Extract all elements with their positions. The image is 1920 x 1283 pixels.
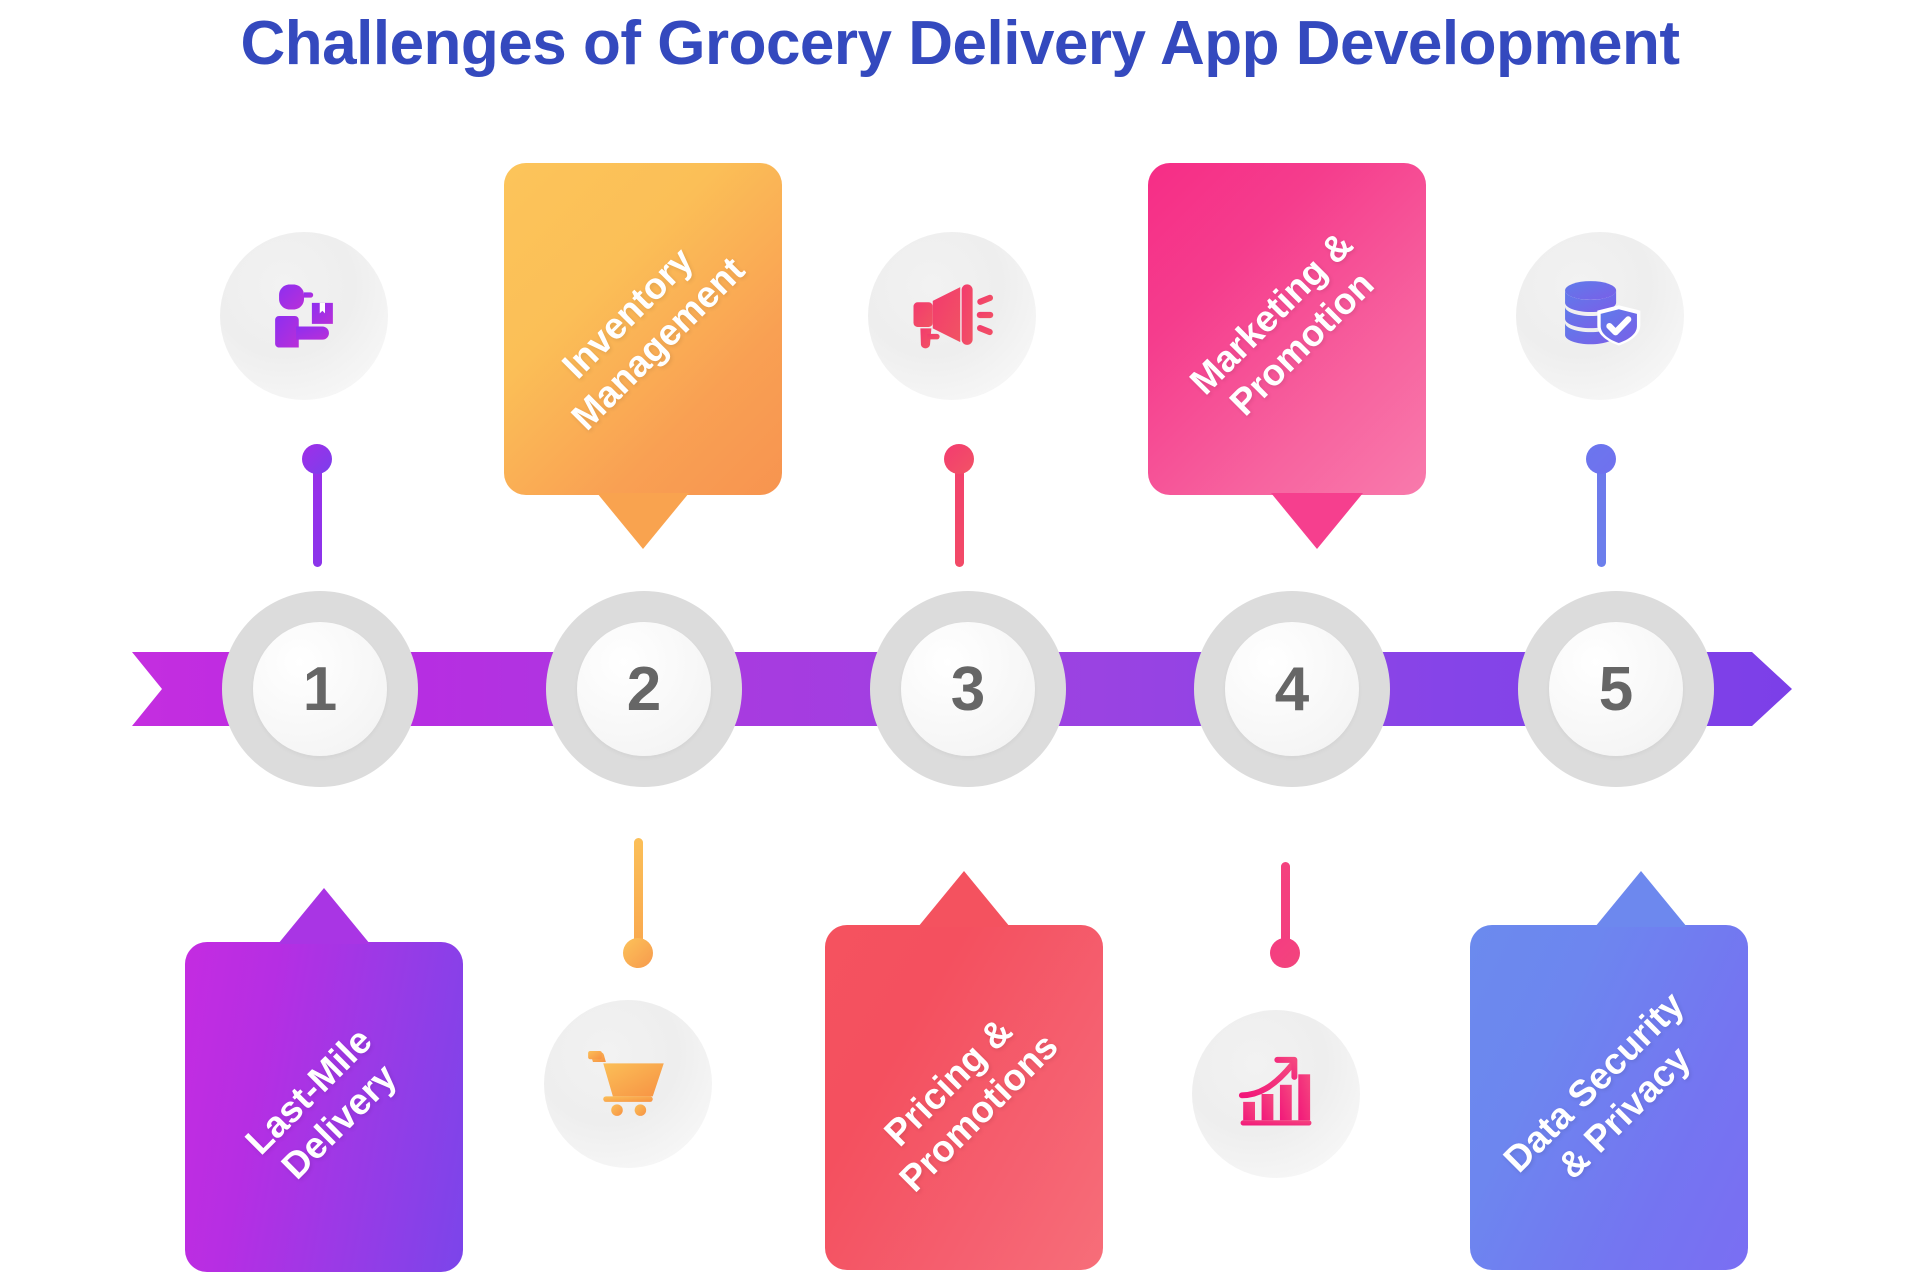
connector-dot-3	[944, 444, 974, 474]
card-data-security-privacy[interactable]: Data Security & Privacy	[1470, 925, 1748, 1270]
card-background	[504, 163, 782, 495]
card-pointer	[1595, 871, 1687, 927]
connector-dot-4	[1270, 938, 1300, 968]
card-pointer	[597, 493, 689, 549]
card-inventory-management[interactable]: Inventory Management	[504, 163, 782, 495]
card-pointer	[918, 871, 1010, 927]
card-pointer	[278, 888, 370, 944]
card-background	[1148, 163, 1426, 495]
timeline-node-number-4: 4	[1225, 622, 1359, 756]
growth-chart-icon	[1234, 1052, 1318, 1136]
timeline-node-2[interactable]: 2	[546, 591, 742, 787]
page-title: Challenges of Grocery Delivery App Devel…	[0, 8, 1920, 79]
timeline-node-4[interactable]: 4	[1194, 591, 1390, 787]
timeline-node-5[interactable]: 5	[1518, 591, 1714, 787]
connector-dot-5	[1586, 444, 1616, 474]
card-last-mile-delivery[interactable]: Last-Mile Delivery	[185, 942, 463, 1272]
icon-bubble-megaphone	[868, 232, 1036, 400]
megaphone-icon	[908, 272, 996, 360]
card-marketing-promotion[interactable]: Marketing & Promotion	[1148, 163, 1426, 495]
shopping-cart-icon	[584, 1040, 672, 1128]
icon-bubble-growth-chart	[1192, 1010, 1360, 1178]
icon-bubble-delivery-person	[220, 232, 388, 400]
icon-bubble-database-shield	[1516, 232, 1684, 400]
card-background	[825, 925, 1103, 1270]
delivery-person-icon	[262, 274, 346, 358]
timeline-node-number-5: 5	[1549, 622, 1683, 756]
infographic-canvas: Challenges of Grocery Delivery App Devel…	[0, 0, 1920, 1283]
card-pointer	[1271, 493, 1363, 549]
card-pricing-promotions[interactable]: Pricing & Promotions	[825, 925, 1103, 1270]
connector-dot-1	[302, 444, 332, 474]
card-background	[185, 942, 463, 1272]
connector-stem-4	[1281, 862, 1290, 950]
timeline-node-1[interactable]: 1	[222, 591, 418, 787]
icon-bubble-shopping-cart	[544, 1000, 712, 1168]
connector-dot-2	[623, 938, 653, 968]
connector-stem-2	[634, 838, 643, 948]
timeline-node-number-3: 3	[901, 622, 1035, 756]
timeline-node-3[interactable]: 3	[870, 591, 1066, 787]
card-background	[1470, 925, 1748, 1270]
timeline-node-number-2: 2	[577, 622, 711, 756]
timeline-node-number-1: 1	[253, 622, 387, 756]
database-shield-icon	[1557, 273, 1643, 359]
